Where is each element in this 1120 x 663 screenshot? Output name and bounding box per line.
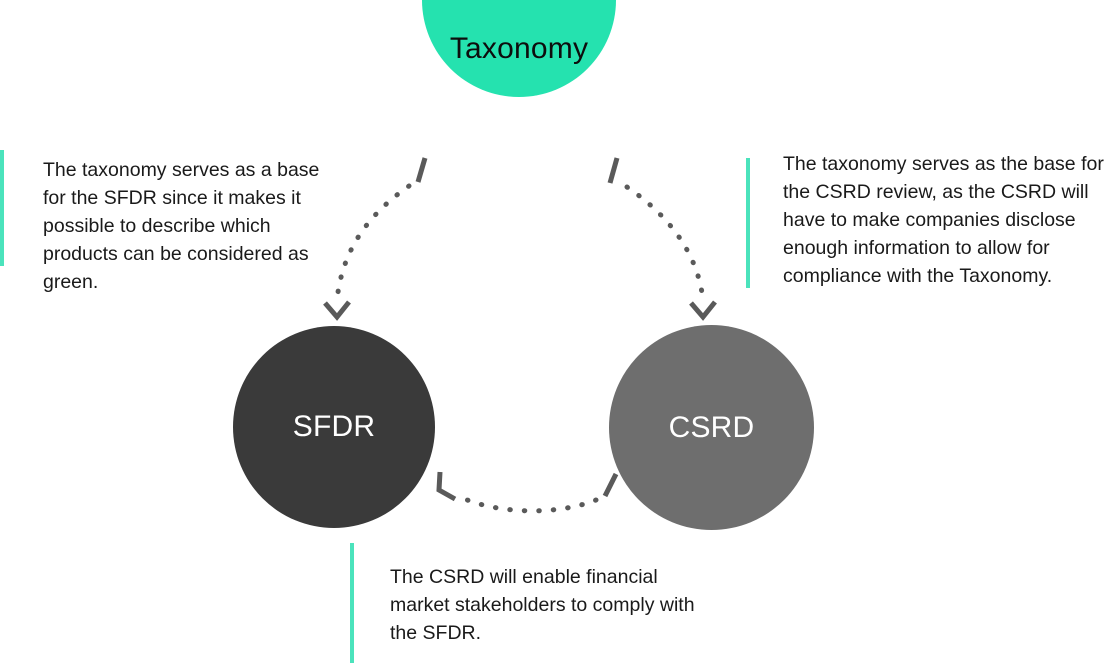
arrowhead-down-icon: [325, 302, 349, 317]
node-csrd[interactable]: CSRD: [609, 325, 814, 530]
node-csrd-label: CSRD: [669, 413, 755, 443]
connector-dotted-path: [337, 186, 409, 300]
node-sfdr[interactable]: SFDR: [233, 326, 435, 528]
arrowhead-down-icon: [691, 302, 715, 317]
node-taxonomy[interactable]: Taxonomy: [422, 0, 616, 97]
note-accent-bar: [746, 158, 750, 288]
note-taxonomy-sfdr-text: The taxonomy serves as a base for the SF…: [43, 156, 343, 296]
connector-tail-tick: [610, 158, 617, 183]
diagram-canvas: Taxonomy SFDR CSRD The taxonomy serves a…: [0, 0, 1120, 663]
connector-dotted-path: [458, 496, 596, 511]
connector-tail-tick: [418, 158, 425, 182]
node-sfdr-label: SFDR: [293, 412, 375, 442]
note-accent-bar: [0, 150, 4, 266]
connector-taxonomy-to-csrd: [610, 158, 715, 317]
connector-tail-tick: [605, 474, 616, 496]
connector-csrd-to-sfdr: [439, 472, 616, 511]
node-taxonomy-label: Taxonomy: [450, 34, 588, 64]
note-csrd-sfdr-text: The CSRD will enable financial market st…: [390, 563, 720, 647]
note-taxonomy-csrd-text: The taxonomy serves as the base for the …: [783, 150, 1113, 290]
arrowhead-left-icon: [439, 472, 455, 499]
note-accent-bar: [350, 543, 354, 663]
connector-dotted-path: [627, 187, 703, 300]
